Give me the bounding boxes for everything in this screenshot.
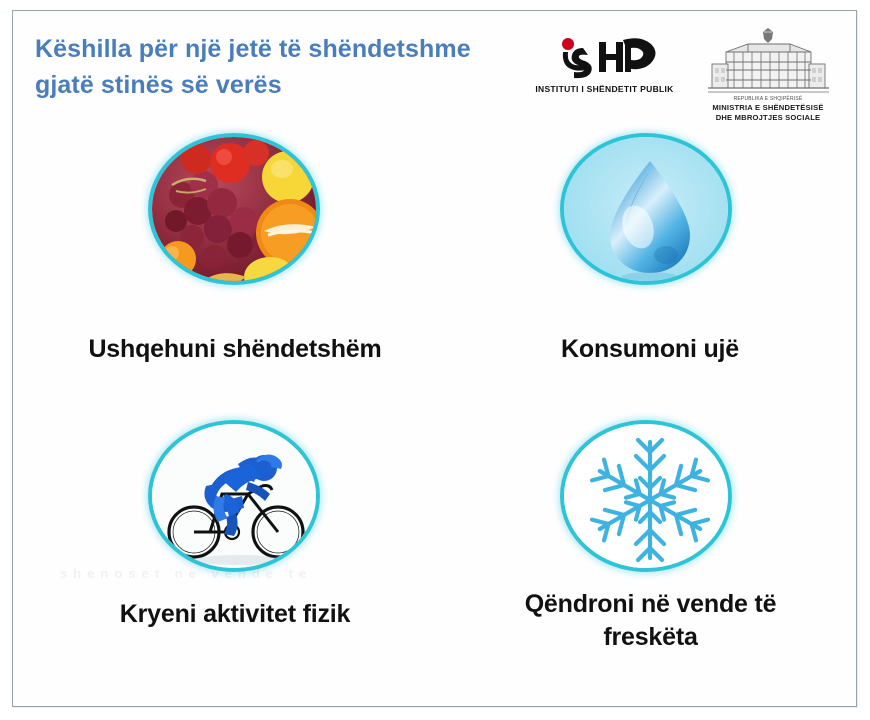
tile-water-caption: Konsumoni ujë <box>490 333 810 366</box>
poster-canvas: Këshilla për një jetë të shëndetshme gja… <box>0 0 870 720</box>
ministry-logo-caption: MINISTRIA E SHËNDETËSISË DHE MBROJTJES S… <box>688 103 848 122</box>
tile-water-image <box>560 133 732 285</box>
ministry-caption-line2: DHE MBROJTJES SOCIALE <box>688 113 848 123</box>
ministry-superline: REPUBLIKA E SHQIPËRISË <box>688 96 848 102</box>
ishp-monogram-icon <box>549 32 659 82</box>
tile-food-image <box>148 133 320 285</box>
page-title: Këshilla për një jetë të shëndetshme gja… <box>35 32 515 103</box>
tile-cycle-image <box>148 420 320 572</box>
ishp-logo: INSTITUTI I SHËNDETIT PUBLIK <box>527 32 682 110</box>
poster-header: Këshilla për një jetë të shëndetshme gja… <box>12 10 857 120</box>
tile-cool-caption: Qëndroni në vende të freskëta <box>478 588 823 654</box>
scan-artifact: shenoset ne vende te <box>60 566 460 592</box>
ministry-caption-line1: MINISTRIA E SHËNDETËSISË <box>688 103 848 113</box>
tile-cycle-caption: Kryeni aktivitet fizik <box>35 598 435 631</box>
tile-cool-image <box>560 420 732 572</box>
ishp-logo-caption: INSTITUTI I SHËNDETIT PUBLIK <box>527 84 682 94</box>
ministry-building-icon <box>696 26 841 98</box>
ministry-logo: REPUBLIKA E SHQIPËRISË MINISTRIA E SHËND… <box>688 26 848 121</box>
tile-food-caption: Ushqehuni shëndetshëm <box>35 333 435 366</box>
